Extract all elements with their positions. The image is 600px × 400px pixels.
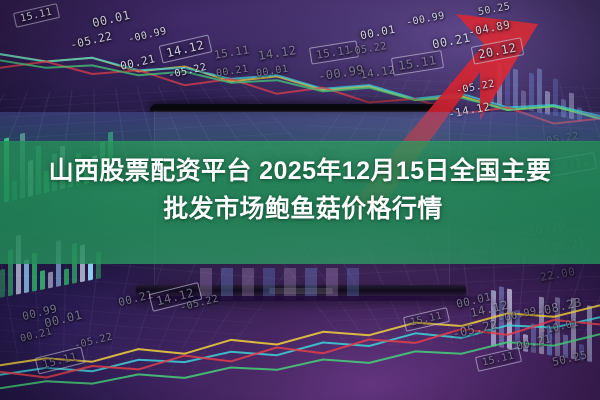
screen-glow-strip (0, 112, 600, 142)
banner-image: 15.11-05.2200.01-00.9900.2114.12-05.2200… (0, 0, 600, 400)
headline-line-1: 山西股票配资平台 2025年12月15日全国主要 (0, 152, 600, 190)
page-title: 山西股票配资平台 2025年12月15日全国主要 批发市场鲍鱼菇价格行情 (0, 152, 600, 228)
headline-line-2: 批发市场鲍鱼菇价格行情 (0, 190, 600, 228)
